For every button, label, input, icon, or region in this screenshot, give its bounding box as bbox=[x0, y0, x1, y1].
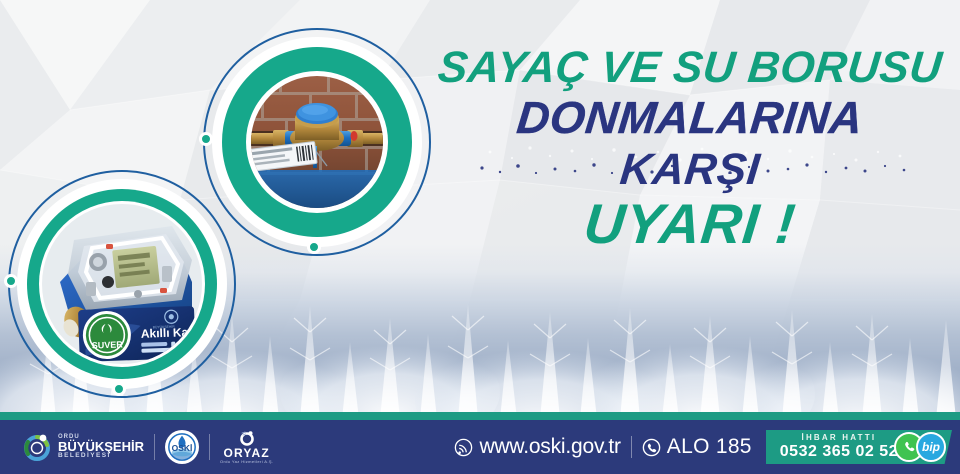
logo-oski[interactable]: OSKİ bbox=[165, 430, 199, 464]
phone-icon bbox=[642, 438, 661, 457]
bip-label: bip bbox=[922, 440, 940, 454]
alo-line[interactable]: ALO 185 bbox=[642, 435, 752, 459]
logo-obb-bottom: BELEDİYESİ bbox=[58, 453, 144, 460]
website-text: www.oski.gov.tr bbox=[479, 435, 620, 459]
badge2-connector-dot-bottom bbox=[112, 382, 126, 396]
footer-logos: ORDU BÜYÜKŞEHİR BELEDİYESİ OSKİ bbox=[22, 430, 273, 464]
oryaz-logo-icon bbox=[239, 430, 255, 446]
hotline-block[interactable]: İHBAR HATTI 0532 365 02 52 bip bbox=[766, 427, 952, 467]
globe-icon bbox=[454, 438, 473, 457]
headline-line-1: SAYAÇ VE SU BORUSU bbox=[428, 46, 953, 90]
alo-text: ALO 185 bbox=[667, 435, 752, 459]
website-link[interactable]: www.oski.gov.tr bbox=[454, 435, 620, 459]
headline-line-2: DONMALARINA bbox=[428, 95, 953, 140]
logo-ordu-buyuksehir[interactable]: ORDU BÜYÜKŞEHİR BELEDİYESİ bbox=[22, 432, 144, 462]
badge2-connector-dot-left bbox=[4, 274, 18, 288]
logo-divider-1 bbox=[154, 434, 155, 460]
bip-icon[interactable]: bip bbox=[916, 432, 946, 462]
teal-divider-strip bbox=[0, 412, 960, 420]
footer-contact: www.oski.gov.tr ALO 185 İHBAR HATTI 0532… bbox=[454, 427, 960, 467]
badge-water-meter bbox=[203, 28, 431, 256]
badge-connector-dot-left bbox=[199, 132, 213, 146]
svg-text:SUVER: SUVER bbox=[92, 339, 124, 350]
badge-connector-dot-bottom bbox=[307, 240, 321, 254]
poster-canvas: Akıllı Kart BÜYÜKŞEHİR bbox=[0, 0, 960, 474]
svg-text:OSKİ: OSKİ bbox=[172, 443, 193, 453]
logo-oryaz-text: ORYAZ bbox=[223, 447, 269, 459]
badge-smart-card-meter: Akıllı Kart BÜYÜKŞEHİR bbox=[8, 170, 236, 398]
hotline-number: 0532 365 02 52 bbox=[780, 443, 898, 461]
logo-oryaz[interactable]: ORYAZ Ordu Yaz Hizmetleri A.Ş. bbox=[220, 430, 273, 464]
headline-block: SAYAÇ VE SU BORUSU DONMALARINA KARŞI UYA… bbox=[430, 46, 950, 252]
hotline-label: İHBAR HATTI bbox=[780, 433, 898, 442]
contact-divider bbox=[631, 436, 632, 458]
logo-divider-2 bbox=[209, 434, 210, 460]
footer-bar: ORDU BÜYÜKŞEHİR BELEDİYESİ OSKİ bbox=[0, 420, 960, 474]
ordu-buyuksehir-logo-icon bbox=[22, 432, 52, 462]
messaging-icons: bip bbox=[894, 432, 946, 462]
logo-oryaz-sub: Ordu Yaz Hizmetleri A.Ş. bbox=[220, 460, 273, 464]
badge-photo bbox=[251, 76, 383, 208]
badge2-photo: Akıllı Kart BÜYÜKŞEHİR bbox=[42, 204, 202, 364]
headline-line-4: UYARI ! bbox=[427, 196, 953, 252]
svg-text:BÜYÜKŞEHİR: BÜYÜKŞEHİR bbox=[153, 324, 176, 330]
headline-line-3: KARŞI bbox=[428, 148, 953, 192]
